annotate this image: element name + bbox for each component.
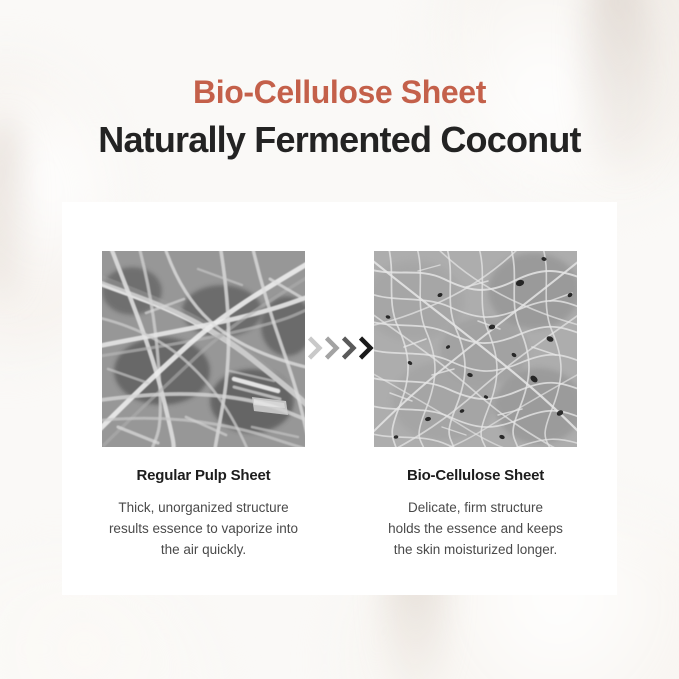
panel-caption-bio-cellulose: Bio-Cellulose Sheet <box>407 467 544 484</box>
chevron-right-icon-3 <box>340 335 356 361</box>
regular-pulp-sheet-micrograph <box>102 251 305 447</box>
panel-regular-pulp: Regular Pulp Sheet Thick, unorganized st… <box>82 202 325 561</box>
panel-description-bio-cellulose: Delicate, firm structure holds the essen… <box>361 498 591 561</box>
panel-description-regular-pulp: Thick, unorganized structure results ess… <box>89 498 319 561</box>
heading-accent-line: Bio-Cellulose Sheet <box>0 74 679 112</box>
comparison-card: Regular Pulp Sheet Thick, unorganized st… <box>62 202 617 595</box>
panel-bio-cellulose: Bio-Cellulose Sheet Delicate, firm struc… <box>354 202 597 561</box>
comparison-row: Regular Pulp Sheet Thick, unorganized st… <box>62 202 617 595</box>
chevron-progression <box>306 335 373 361</box>
page-title: Naturally Fermented Coconut <box>0 118 679 161</box>
page-heading: Bio-Cellulose Sheet Naturally Fermented … <box>0 74 679 161</box>
bio-cellulose-sheet-micrograph <box>374 251 577 447</box>
chevron-right-icon-2 <box>323 335 339 361</box>
chevron-right-icon-4 <box>357 335 373 361</box>
chevron-right-icon-1 <box>306 335 322 361</box>
panel-caption-regular-pulp: Regular Pulp Sheet <box>137 467 271 484</box>
